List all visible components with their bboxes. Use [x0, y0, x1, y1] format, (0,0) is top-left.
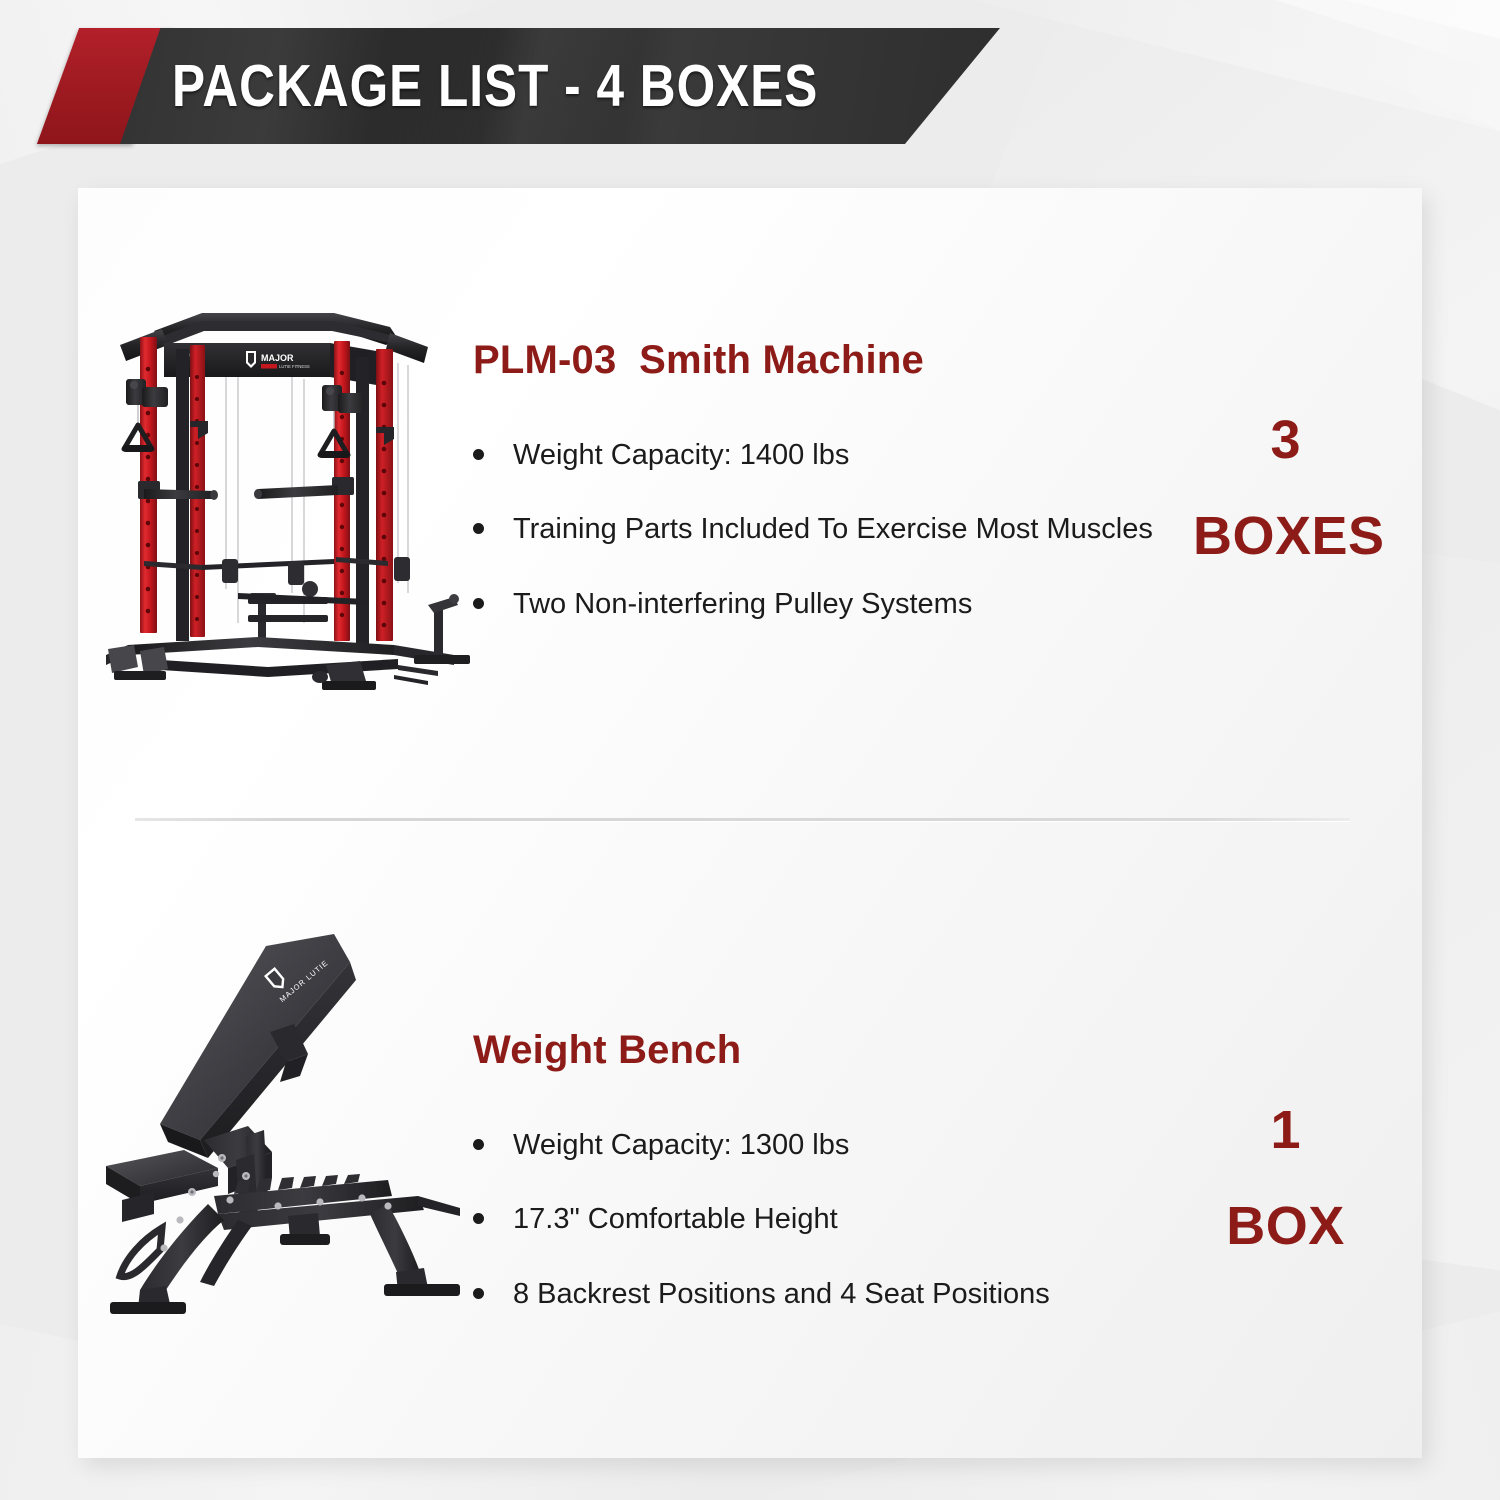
header-banner: PACKAGE LIST - 4 BOXES: [0, 28, 1060, 144]
product-row-weight-bench: MAJOR LUTIE: [78, 848, 1422, 1458]
feature-text: 17.3" Comfortable Height: [513, 1203, 838, 1235]
feature-item: 8 Backrest Positions and 4 Seat Position…: [473, 1278, 1213, 1310]
feature-list: Weight Capacity: 1300 lbs 17.3" Comforta…: [473, 1129, 1213, 1310]
smith-machine-details: PLM-03 Smith Machine Weight Capacity: 14…: [473, 338, 1213, 620]
box-count-badge: 1 BOX: [1193, 1103, 1378, 1253]
feature-text: Two Non-interfering Pulley Systems: [513, 588, 972, 620]
bullet-icon: [473, 1139, 484, 1150]
feature-item: 17.3" Comfortable Height: [473, 1203, 1213, 1235]
box-count-label: BOXES: [1193, 509, 1378, 563]
feature-item: Weight Capacity: 1400 lbs: [473, 439, 1213, 471]
product-row-smith-machine: MAJOR LUTIE FITNESS: [78, 188, 1422, 818]
bullet-icon: [473, 1213, 484, 1224]
feature-text: Training Parts Included To Exercise Most…: [513, 513, 1153, 545]
feature-list: Weight Capacity: 1400 lbs Training Parts…: [473, 439, 1213, 620]
package-list-infographic: PACKAGE LIST - 4 BOXES: [0, 0, 1500, 1500]
page-title: PACKAGE LIST - 4 BOXES: [172, 52, 818, 120]
svg-text:MAJOR: MAJOR: [261, 353, 294, 363]
feature-item: Weight Capacity: 1300 lbs: [473, 1129, 1213, 1161]
bullet-icon: [473, 598, 484, 609]
feature-text: 8 Backrest Positions and 4 Seat Position…: [513, 1278, 1050, 1310]
bullet-icon: [473, 523, 484, 534]
weight-bench-photo: MAJOR LUTIE: [88, 928, 488, 1328]
box-count-number: 1: [1193, 1103, 1378, 1157]
feature-item: Training Parts Included To Exercise Most…: [473, 513, 1213, 545]
feature-text: Weight Capacity: 1400 lbs: [513, 439, 849, 471]
bullet-icon: [473, 449, 484, 460]
feature-item: Two Non-interfering Pulley Systems: [473, 588, 1213, 620]
content-card: MAJOR LUTIE FITNESS: [78, 188, 1422, 1458]
box-count-number: 3: [1193, 413, 1378, 467]
bullet-icon: [473, 1288, 484, 1299]
product-title: Weight Bench: [473, 1028, 1213, 1073]
product-title: PLM-03 Smith Machine: [473, 338, 1213, 383]
feature-text: Weight Capacity: 1300 lbs: [513, 1129, 849, 1161]
box-count-label: BOX: [1193, 1199, 1378, 1253]
section-divider: [135, 818, 1350, 821]
weight-bench-details: Weight Bench Weight Capacity: 1300 lbs 1…: [473, 1028, 1213, 1310]
smith-machine-photo: MAJOR LUTIE FITNESS: [98, 293, 478, 693]
box-count-badge: 3 BOXES: [1193, 413, 1378, 563]
svg-text:LUTIE FITNESS: LUTIE FITNESS: [279, 364, 310, 369]
